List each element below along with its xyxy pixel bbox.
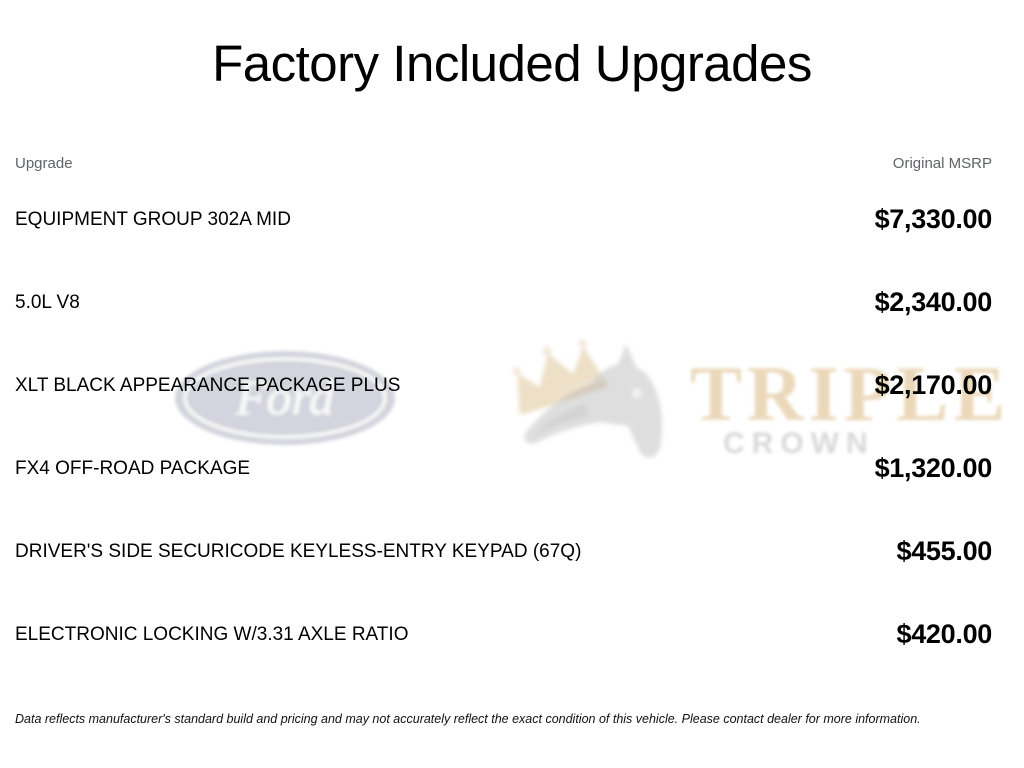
- upgrade-name: XLT BLACK APPEARANCE PACKAGE PLUS: [15, 344, 655, 427]
- page-title: Factory Included Upgrades: [0, 0, 1024, 89]
- upgrade-name: 5.0L V8: [15, 261, 655, 344]
- table-row: 5.0L V8$2,340.00: [15, 261, 992, 344]
- upgrade-msrp: $420.00: [655, 593, 992, 676]
- upgrade-msrp: $2,170.00: [655, 344, 992, 427]
- disclaimer-text: Data reflects manufacturer's standard bu…: [15, 712, 1005, 727]
- table-row: ELECTRONIC LOCKING W/3.31 AXLE RATIO$420…: [15, 593, 992, 676]
- upgrade-msrp: $1,320.00: [655, 427, 992, 510]
- factory-upgrades-table: Upgrade Original MSRP EQUIPMENT GROUP 30…: [15, 155, 992, 676]
- upgrade-name: DRIVER'S SIDE SECURICODE KEYLESS-ENTRY K…: [15, 510, 655, 593]
- table-row: FX4 OFF-ROAD PACKAGE$1,320.00: [15, 427, 992, 510]
- table-row: XLT BLACK APPEARANCE PACKAGE PLUS$2,170.…: [15, 344, 992, 427]
- upgrade-name: FX4 OFF-ROAD PACKAGE: [15, 427, 655, 510]
- upgrade-msrp: $7,330.00: [655, 178, 992, 261]
- table-header-row: Upgrade Original MSRP: [15, 155, 992, 178]
- factory-upgrades-page: Factory Included Upgrades Upgrade Origin…: [0, 0, 1024, 768]
- table-body: EQUIPMENT GROUP 302A MID$7,330.005.0L V8…: [15, 178, 992, 676]
- upgrade-name: EQUIPMENT GROUP 302A MID: [15, 178, 655, 261]
- upgrade-msrp: $455.00: [655, 510, 992, 593]
- upgrade-msrp: $2,340.00: [655, 261, 992, 344]
- column-header-msrp: Original MSRP: [655, 155, 992, 178]
- table-row: EQUIPMENT GROUP 302A MID$7,330.00: [15, 178, 992, 261]
- upgrade-name: ELECTRONIC LOCKING W/3.31 AXLE RATIO: [15, 593, 655, 676]
- table-row: DRIVER'S SIDE SECURICODE KEYLESS-ENTRY K…: [15, 510, 992, 593]
- column-header-upgrade: Upgrade: [15, 155, 655, 178]
- table-header: Upgrade Original MSRP: [15, 155, 992, 178]
